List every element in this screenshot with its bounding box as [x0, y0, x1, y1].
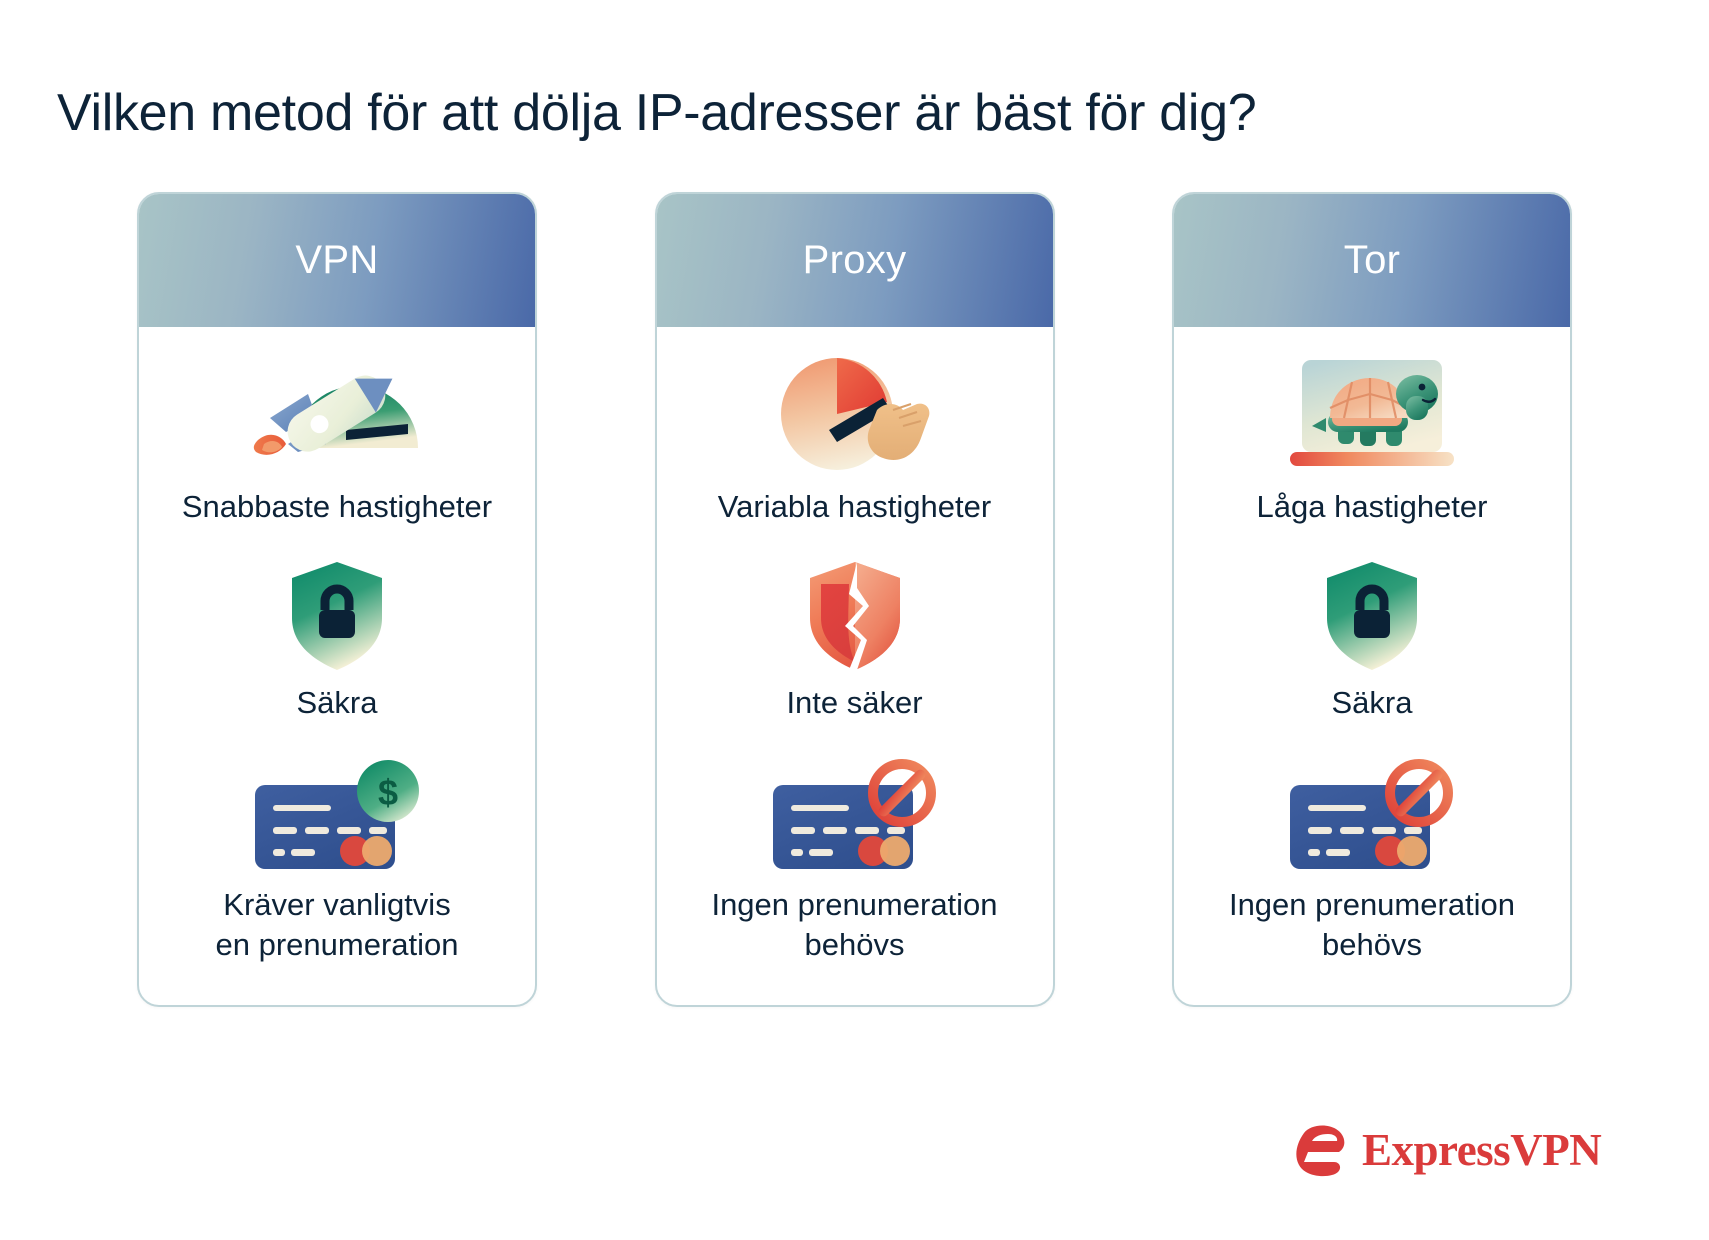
credit-card-dollar-icon: $: [247, 757, 427, 877]
card-header-tor: Tor: [1174, 194, 1570, 327]
feature-speed: Variabla hastigheter: [657, 349, 1053, 527]
shield-lock-icon: [287, 557, 387, 675]
card-header-proxy: Proxy: [657, 194, 1053, 327]
page-title: Vilken metod för att dölja IP-adresser ä…: [57, 82, 1256, 144]
card-title: Tor: [1344, 238, 1400, 283]
feature-price: Ingen prenumeration behövs: [1174, 757, 1570, 965]
gauge-hand-icon: [765, 349, 945, 479]
feature-security: Säkra: [1174, 557, 1570, 723]
feature-security: Inte säker: [657, 557, 1053, 723]
feature-label: Kräver vanligtvis en prenumeration: [206, 885, 469, 965]
card-proxy: Proxy: [655, 192, 1055, 1007]
feature-speed: Låga hastigheter: [1174, 349, 1570, 527]
rocket-speedometer-icon: [242, 349, 432, 479]
feature-price: Ingen prenumeration behövs: [657, 757, 1053, 965]
feature-price: $ Kräver vanligtvis en prenumeration: [139, 757, 535, 965]
shield-lock-icon: [1322, 557, 1422, 675]
feature-security: Säkra: [139, 557, 535, 723]
card-tor: Tor: [1172, 192, 1572, 1007]
feature-label: Säkra: [1322, 683, 1423, 723]
card-title: VPN: [295, 238, 378, 283]
card-body-tor: Låga hastigheter: [1174, 327, 1570, 1005]
feature-label: Snabbaste hastigheter: [172, 487, 502, 527]
svg-text:$: $: [378, 772, 398, 813]
expressvpn-brand: ExpressVPN: [1290, 1122, 1601, 1178]
card-title: Proxy: [803, 238, 907, 283]
card-body-vpn: Snabbaste hastigheter: [139, 327, 535, 1005]
feature-label: Inte säker: [776, 683, 932, 723]
brand-name-primary: Express: [1362, 1125, 1510, 1175]
feature-label: Säkra: [287, 683, 388, 723]
credit-card-prohibited-icon: [765, 757, 945, 877]
brand-name: ExpressVPN: [1362, 1128, 1601, 1173]
card-vpn: VPN: [137, 192, 537, 1007]
feature-speed: Snabbaste hastigheter: [139, 349, 535, 527]
feature-label: Låga hastigheter: [1247, 487, 1498, 527]
broken-shield-icon: [805, 557, 905, 675]
brand-name-secondary: VPN: [1510, 1125, 1601, 1175]
turtle-laptop-icon: [1282, 349, 1462, 479]
expressvpn-logo-mark: [1290, 1122, 1352, 1178]
card-header-vpn: VPN: [139, 194, 535, 327]
card-body-proxy: Variabla hastigheter: [657, 327, 1053, 1005]
feature-label: Variabla hastigheter: [708, 487, 1001, 527]
feature-label: Ingen prenumeration behövs: [701, 885, 1007, 965]
comparison-cards: VPN: [137, 192, 1572, 1007]
feature-label: Ingen prenumeration behövs: [1219, 885, 1525, 965]
credit-card-prohibited-icon: [1282, 757, 1462, 877]
